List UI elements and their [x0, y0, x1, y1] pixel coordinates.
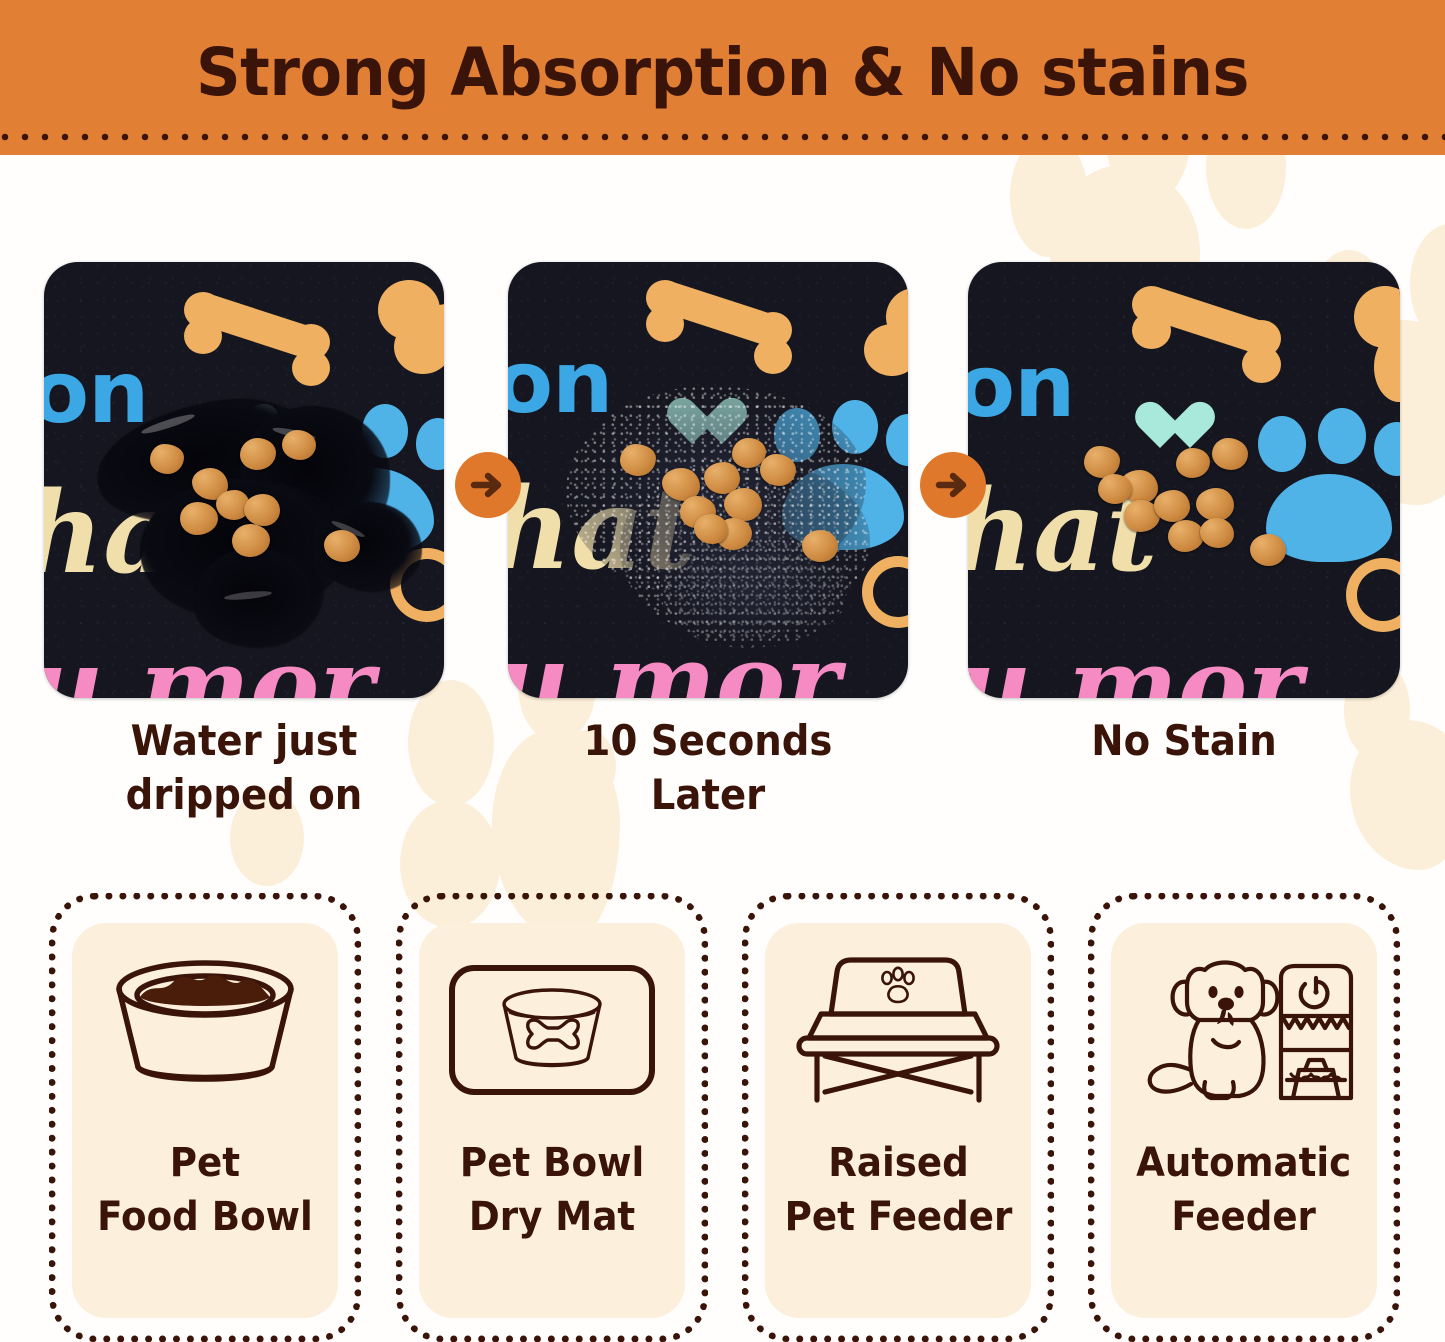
raised-pet-feeder-icon — [765, 923, 1031, 1137]
arrow-right-icon — [455, 452, 521, 518]
panel-caption-2: 10 Seconds Later — [524, 714, 892, 822]
card-label: Automatic Feeder — [1136, 1137, 1351, 1244]
card-label-line-2: Food Bowl — [97, 1191, 313, 1245]
page-title: Strong Absorption & No stains — [43, 34, 1401, 111]
mat-photo-no-stain: on hat u mor — [968, 262, 1400, 698]
card-label-line-1: Pet — [97, 1137, 313, 1191]
mat-photo-water-dripped-on: on hat u mor — [44, 262, 444, 698]
arrow-right-icon — [920, 452, 986, 518]
mat-heart-shape — [1148, 404, 1202, 454]
card-label-line-2: Pet Feeder — [784, 1191, 1012, 1245]
panel-caption-3: No Stain — [985, 714, 1382, 768]
mat-text-pink: u mor — [44, 634, 374, 698]
card-label: Pet Bowl Dry Mat — [460, 1137, 644, 1244]
use-case-cards: Pet Food Bowl — [0, 893, 1445, 1342]
header-banner: Strong Absorption & No stains — [0, 0, 1445, 155]
infographic-page: Strong Absorption & No stains on — [0, 0, 1445, 1342]
mat-text-blue: on — [968, 344, 1074, 430]
dotted-divider-icon — [0, 131, 1445, 143]
card-label-line-1: Raised — [784, 1137, 1012, 1191]
pet-bowl-dry-mat-icon — [419, 923, 685, 1137]
card-label-line-1: Automatic — [1136, 1137, 1351, 1191]
card-label-line-2: Dry Mat — [460, 1191, 644, 1245]
mat-text-blue: on — [44, 350, 148, 436]
card-label: Pet Food Bowl — [97, 1137, 313, 1244]
mat-text-pink: u mor — [968, 634, 1302, 698]
absorption-demo-strip: on hat u mor — [0, 262, 1445, 702]
use-case-card-automatic-feeder[interactable]: Automatic Feeder — [1088, 893, 1400, 1342]
use-case-card-pet-food-bowl[interactable]: Pet Food Bowl — [49, 893, 361, 1342]
pet-food-bowl-icon — [72, 923, 338, 1137]
use-case-card-pet-bowl-dry-mat[interactable]: Pet Bowl Dry Mat — [396, 893, 708, 1342]
card-label-line-1: Pet Bowl — [460, 1137, 644, 1191]
automatic-feeder-icon — [1111, 923, 1377, 1137]
card-label: Raised Pet Feeder — [784, 1137, 1012, 1244]
mat-text-blue: on — [508, 340, 612, 426]
panel-caption-1: Water just dripped on — [60, 714, 428, 822]
mat-photo-ten-seconds-later: on hat u mor — [508, 262, 908, 698]
use-case-card-raised-pet-feeder[interactable]: Raised Pet Feeder — [742, 893, 1054, 1342]
card-label-line-2: Feeder — [1136, 1191, 1351, 1245]
